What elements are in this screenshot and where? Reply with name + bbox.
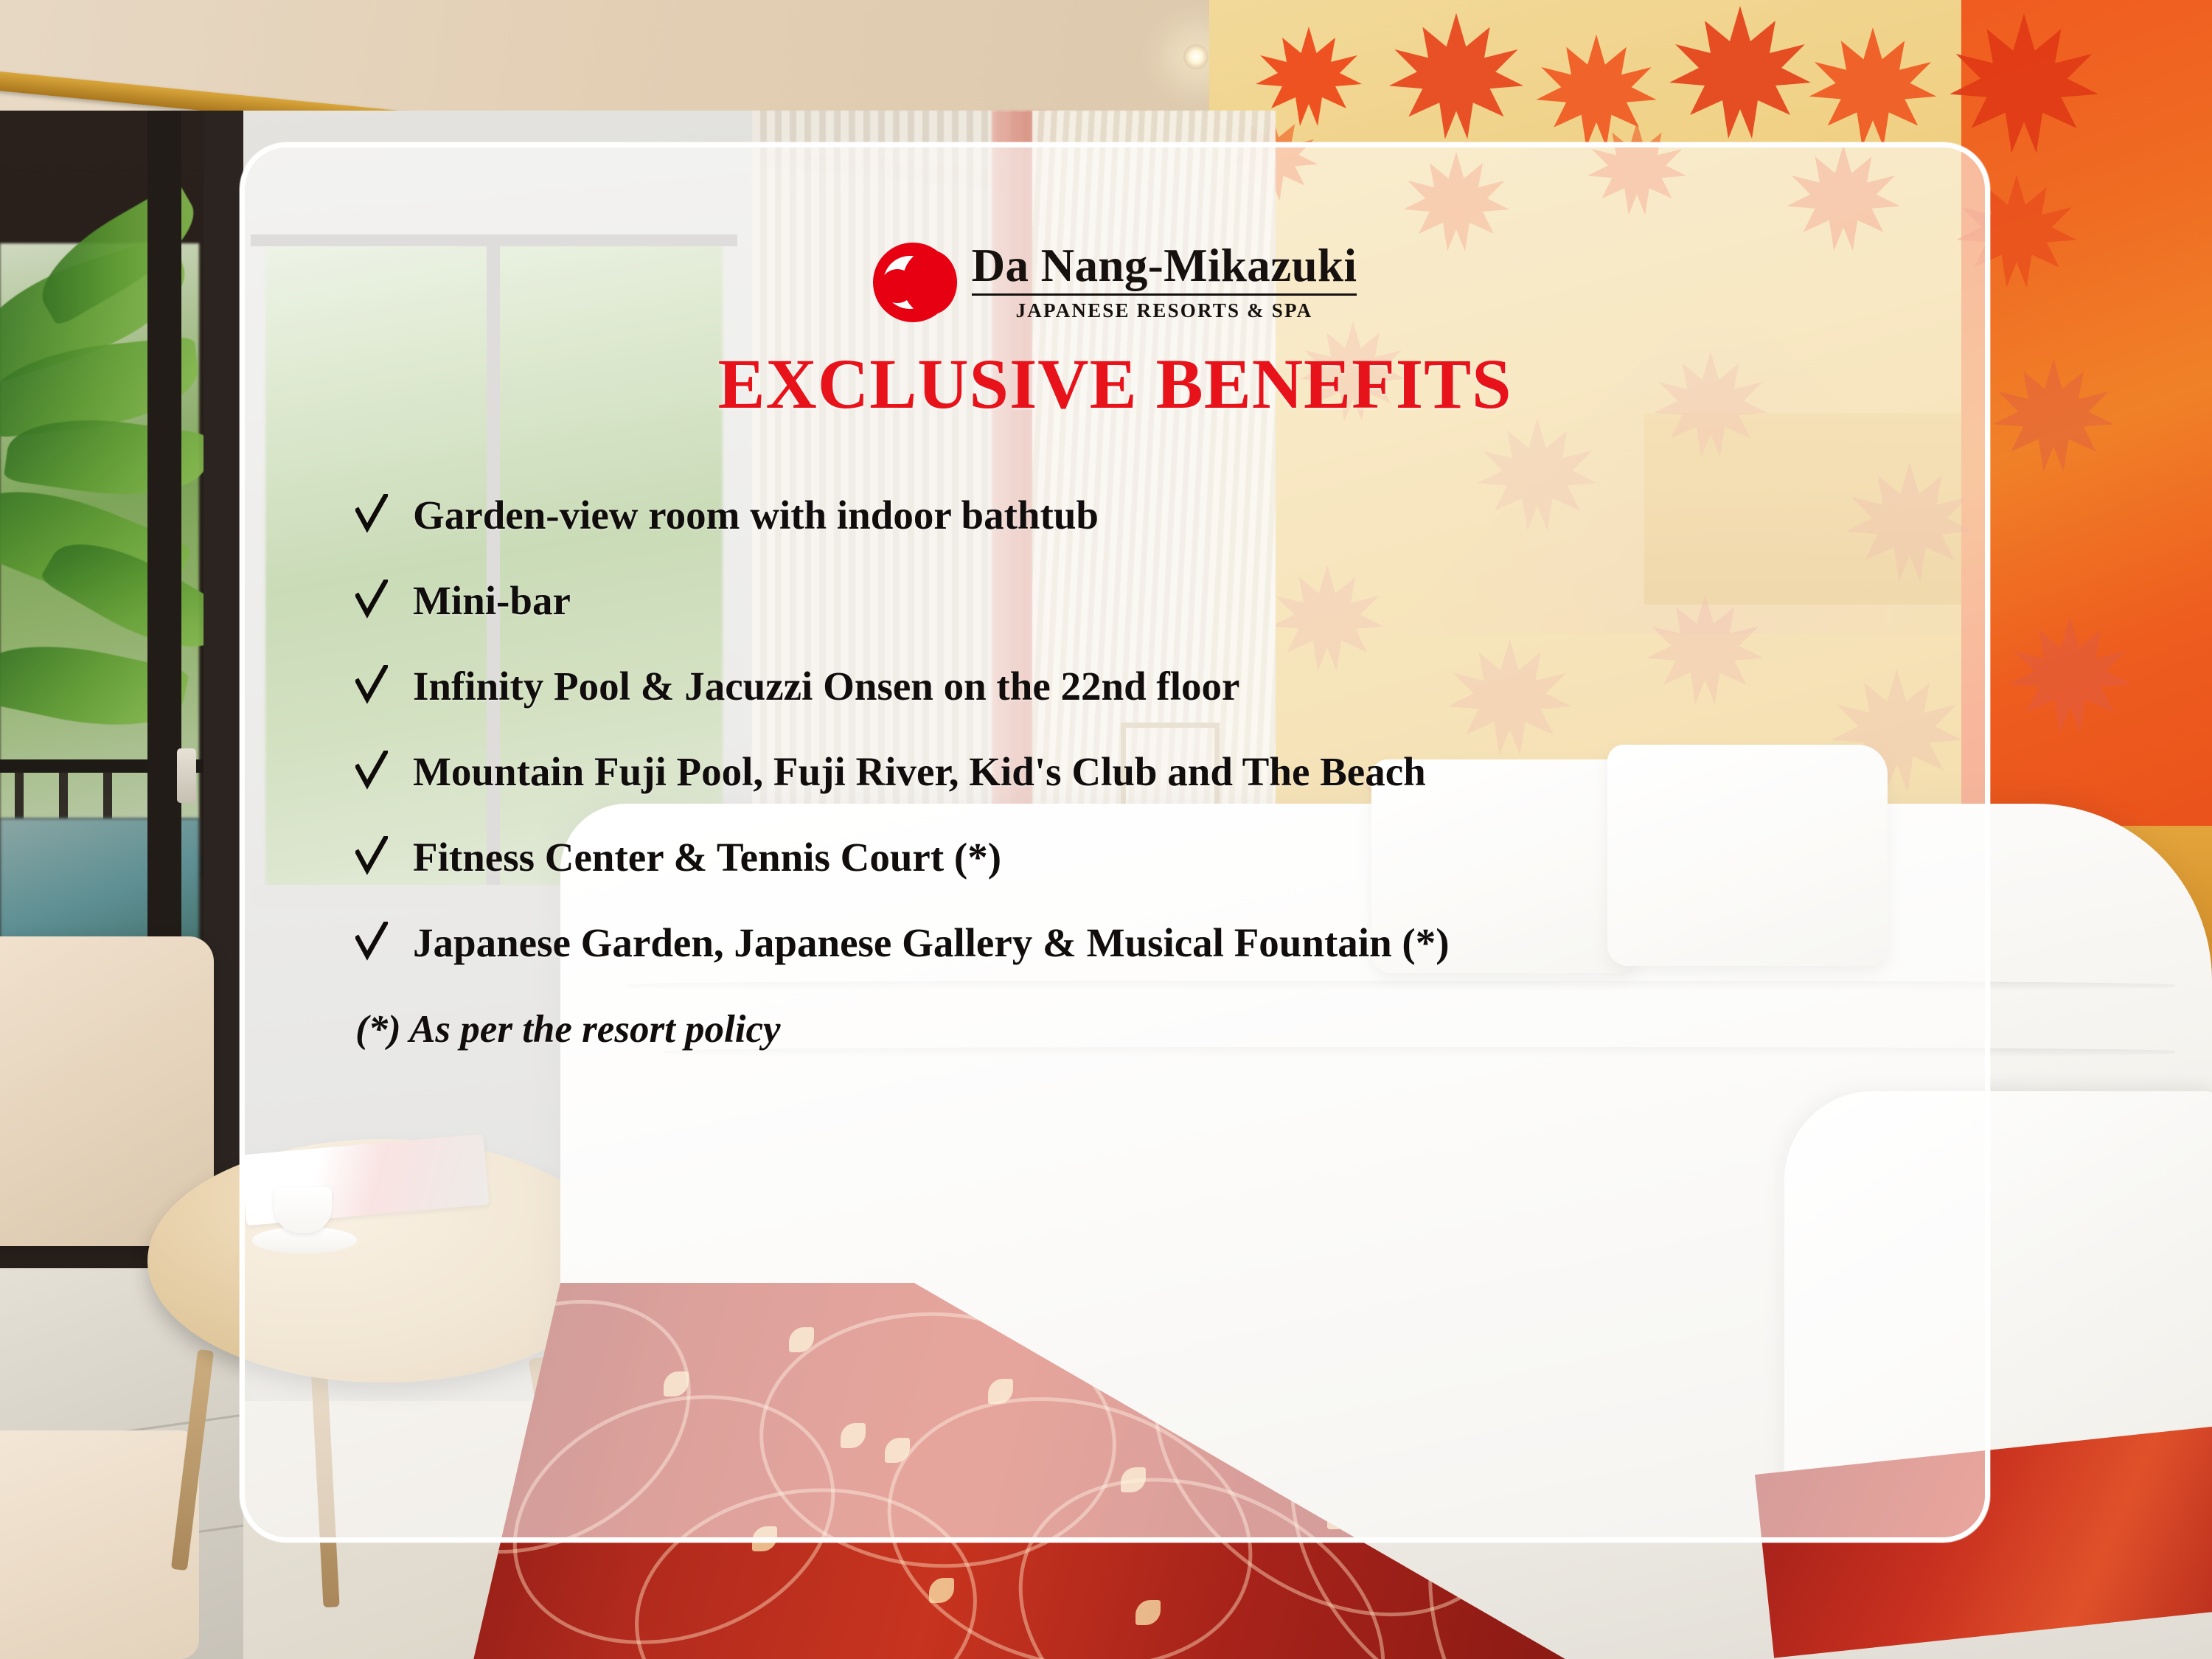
brand-tagline: JAPANESE RESORTS & SPA: [1016, 299, 1313, 322]
check-mark-icon: [355, 751, 388, 795]
benefit-item: Infinity Pool & Jacuzzi Onsen on the 22n…: [355, 665, 1941, 709]
benefit-label: Infinity Pool & Jacuzzi Onsen on the 22n…: [413, 665, 1239, 708]
exclusive-benefits-card: Da Nang-Mikazuki JAPANESE RESORTS & SPA …: [240, 142, 1990, 1543]
ottoman: [0, 1430, 199, 1659]
brand-divider: [972, 293, 1357, 296]
benefit-item: Japanese Garden, Japanese Gallery & Musi…: [355, 922, 1941, 966]
benefit-item: Mini-bar: [355, 580, 1941, 624]
benefit-item: Mountain Fuji Pool, Fuji River, Kid's Cl…: [355, 751, 1941, 795]
maple-leaf-icon: [1386, 7, 1526, 147]
benefit-label: Garden-view room with indoor bathtub: [413, 494, 1099, 537]
maple-leaf-icon: [1947, 7, 2101, 162]
check-mark-icon: [355, 836, 388, 880]
benefit-label: Japanese Garden, Japanese Gallery & Musi…: [413, 922, 1450, 964]
benefit-label: Mountain Fuji Pool, Fuji River, Kid's Cl…: [413, 751, 1426, 793]
page-title: EXCLUSIVE BENEFITS: [245, 343, 1985, 425]
crescent-moon-logo-icon: [873, 243, 953, 322]
maple-leaf-icon: [1666, 0, 1814, 147]
benefit-label: Fitness Center & Tennis Court (*): [413, 836, 1001, 879]
footnote: (*) As per the resort policy: [355, 1007, 1941, 1051]
door-handle: [177, 748, 196, 803]
check-mark-icon: [355, 922, 388, 966]
benefit-item: Garden-view room with indoor bathtub: [355, 494, 1941, 538]
maple-leaf-icon: [2006, 612, 2135, 741]
benefits-list: Garden-view room with indoor bathtubMini…: [355, 494, 1941, 1051]
recessed-ceiling-light: [1183, 44, 1208, 69]
benefit-item: Fitness Center & Tennis Court (*): [355, 836, 1941, 880]
brand-logo: Da Nang-Mikazuki JAPANESE RESORTS & SPA: [245, 242, 1985, 322]
check-mark-icon: [355, 665, 388, 709]
check-mark-icon: [355, 580, 388, 624]
brand-name: Da Nang-Mikazuki: [972, 242, 1357, 289]
check-mark-icon: [355, 494, 388, 538]
maple-leaf-icon: [1806, 22, 1939, 155]
benefit-label: Mini-bar: [413, 580, 571, 622]
maple-leaf-icon: [1991, 354, 2116, 479]
